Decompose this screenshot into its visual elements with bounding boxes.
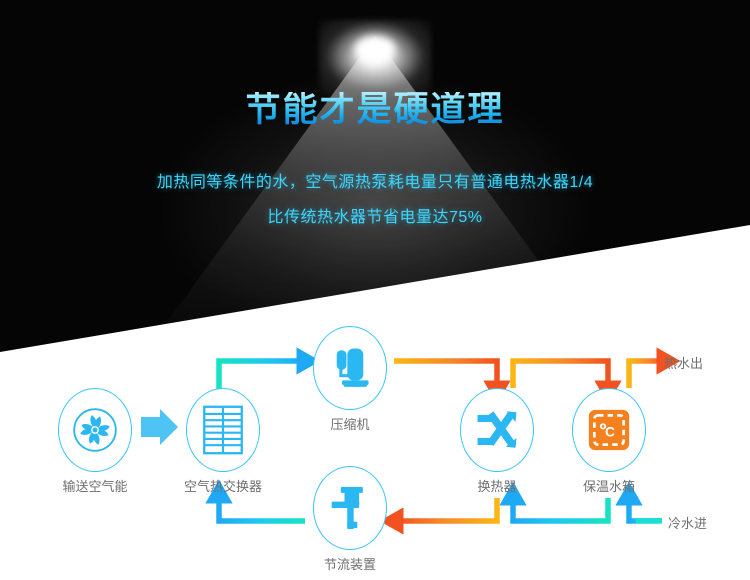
- label-hot-water-out: 热水出: [664, 353, 703, 372]
- arrow-compressor-to-heatexchanger: [394, 361, 497, 388]
- node-label: 节流装置: [279, 554, 421, 573]
- arrow-coldwater-to-tank: [629, 498, 660, 521]
- slide-canvas: 节能才是硬道理 加热同等条件的水，空气源热泵耗电量只有普通电热水器1/4 比传统…: [0, 0, 750, 580]
- svg-text:C: C: [605, 424, 615, 439]
- radiator-icon: [186, 388, 260, 472]
- shuffle-icon: [460, 388, 534, 472]
- fan-icon: [58, 388, 132, 472]
- node-label: 输送空气能: [24, 476, 166, 495]
- node-label: 压缩机: [279, 414, 421, 433]
- node-label: 保温水箱: [538, 476, 680, 495]
- arrow-tank-to-heatexchanger: [513, 498, 608, 521]
- node-label: 空气热交换器: [152, 476, 294, 495]
- thermostat-icon: C: [572, 388, 646, 472]
- arrow-throttle-to-exchanger: [219, 496, 305, 521]
- legend-coldwater-swatch: [636, 518, 662, 524]
- valve-icon: [313, 466, 387, 550]
- label-cold-water-in: 冷水进: [668, 513, 707, 532]
- compressor-icon: [313, 326, 387, 410]
- arrow-tank-to-hotwater: [629, 361, 664, 388]
- chevron-right-icon: [141, 409, 178, 445]
- arrow-heatexchanger-to-tank: [513, 361, 608, 388]
- arrow-heatexchanger-to-throttle: [396, 498, 497, 521]
- heat-pump-flow-diagram: 输送空气能 空气热交换器: [0, 0, 750, 580]
